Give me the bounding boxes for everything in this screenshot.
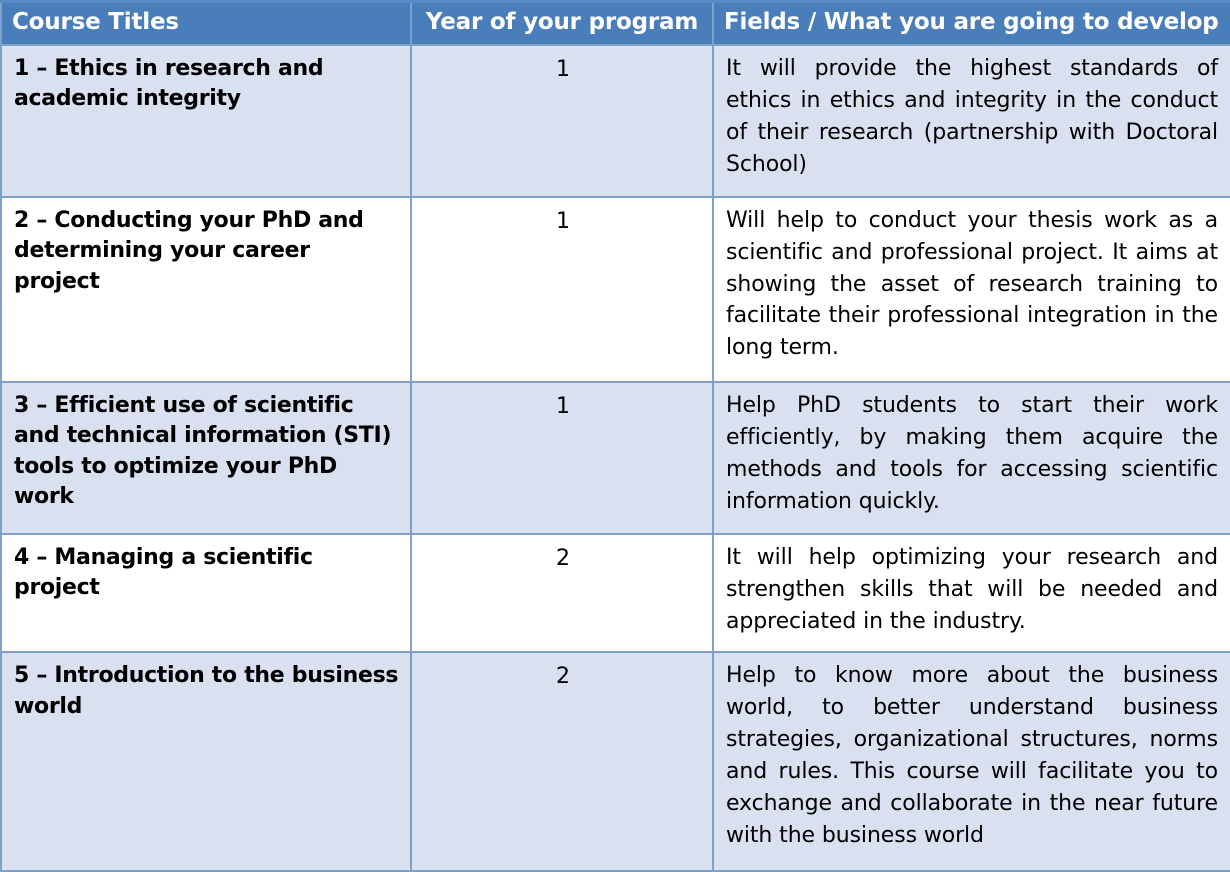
cell-field-description: Help PhD students to start their work ef… bbox=[713, 382, 1230, 534]
cell-field-description: Will help to conduct your thesis work as… bbox=[713, 197, 1230, 382]
table-row: 3 – Efficient use of scientific and tech… bbox=[1, 382, 1230, 534]
cell-course-title: 1 – Ethics in research and academic inte… bbox=[1, 45, 411, 197]
cell-course-title: 3 – Efficient use of scientific and tech… bbox=[1, 382, 411, 534]
table-header: Course Titles Year of your program Field… bbox=[1, 2, 1230, 46]
table-row: 1 – Ethics in research and academic inte… bbox=[1, 45, 1230, 197]
cell-field-description: It will help optimizing your research an… bbox=[713, 534, 1230, 652]
cell-course-title: 5 – Introduction to the business world bbox=[1, 652, 411, 871]
cell-program-year: 1 bbox=[411, 197, 713, 382]
header-row: Course Titles Year of your program Field… bbox=[1, 2, 1230, 46]
cell-field-description: Help to know more about the business wor… bbox=[713, 652, 1230, 871]
cell-course-title: 4 – Managing a scientific project bbox=[1, 534, 411, 652]
cell-program-year: 2 bbox=[411, 652, 713, 871]
cell-program-year: 1 bbox=[411, 382, 713, 534]
cell-program-year: 2 bbox=[411, 534, 713, 652]
table-row: 5 – Introduction to the business world 2… bbox=[1, 652, 1230, 871]
table-row: 2 – Conducting your PhD and determining … bbox=[1, 197, 1230, 382]
cell-field-description: It will provide the highest standards of… bbox=[713, 45, 1230, 197]
table-row: 4 – Managing a scientific project 2 It w… bbox=[1, 534, 1230, 652]
course-catalog-table: Course Titles Year of your program Field… bbox=[0, 0, 1230, 872]
column-header-year-of-program: Year of your program bbox=[411, 2, 713, 46]
cell-program-year: 1 bbox=[411, 45, 713, 197]
column-header-fields: Fields / What you are going to develop bbox=[713, 2, 1230, 46]
table-body: 1 – Ethics in research and academic inte… bbox=[1, 45, 1230, 871]
cell-course-title: 2 – Conducting your PhD and determining … bbox=[1, 197, 411, 382]
column-header-course-titles: Course Titles bbox=[1, 2, 411, 46]
